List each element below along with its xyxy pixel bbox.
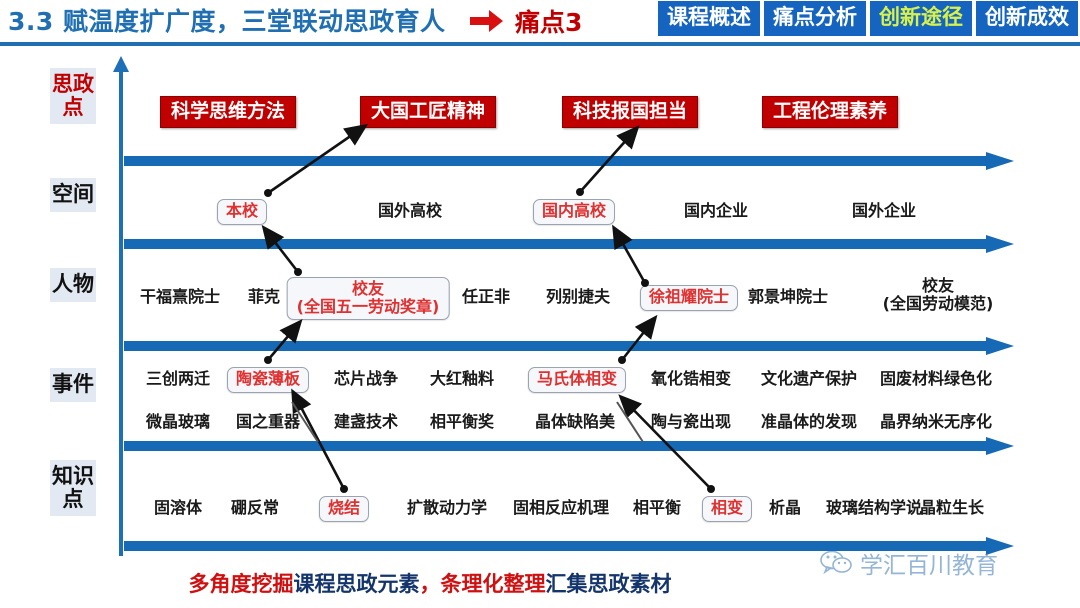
kongjian-item-1[interactable]: 本校 xyxy=(217,199,267,225)
renwu-item-5: 列别捷夫 xyxy=(546,289,610,306)
zhishidian-item-4: 扩散动力学 xyxy=(407,500,487,517)
tab-innovation-path[interactable]: 创新途径 xyxy=(870,1,972,36)
shijian-separator-right xyxy=(617,402,643,442)
kongjian-item-5: 国外企业 xyxy=(852,203,916,220)
sizheng-box-3[interactable]: 科技报国担当 xyxy=(562,96,698,128)
tab-innovation-results[interactable]: 创新成效 xyxy=(976,1,1078,36)
shijian-l2-item-2: 国之重器 xyxy=(236,414,300,431)
shijian-l2-item-5: 晶体缺陷美 xyxy=(535,414,615,431)
shijian-l1-item-1: 三创两迁 xyxy=(146,371,210,388)
zhishidian-item-2: 硼反常 xyxy=(231,500,279,517)
renwu-item-8-line2: (全国劳动模范) xyxy=(883,295,994,313)
zhishidian-item-6: 相平衡 xyxy=(633,500,681,517)
shijian-l1-item-8: 固废材料绿色化 xyxy=(880,371,992,388)
footer-seg-2: 课程思政元素 xyxy=(294,572,420,596)
wechat-icon xyxy=(820,550,854,576)
shijian-l2-item-7: 准晶体的发现 xyxy=(761,414,857,431)
watermark-text: 学汇百川教育 xyxy=(860,546,998,580)
zhishidian-item-5: 固相反应机理 xyxy=(513,500,609,517)
slide-header: 3.3 赋温度扩广度，三堂联动思政育人 痛点3 课程概述 痛点分析 创新途径 创… xyxy=(0,0,1080,44)
shijian-l1-item-5[interactable]: 马氏体相变 xyxy=(528,367,626,393)
shijian-l1-item-2[interactable]: 陶瓷薄板 xyxy=(227,367,309,393)
row-arrow-sizheng-divider xyxy=(124,152,1014,170)
sidebar-item-shijian[interactable]: 事件 xyxy=(50,368,96,402)
renwu-item-3-line1: 校友 xyxy=(297,280,440,298)
zhishidian-item-10: 晶粒生长 xyxy=(920,500,984,517)
footer-seg-3: ，条理化整理 xyxy=(420,572,546,596)
right-arrow-icon xyxy=(470,8,504,34)
shijian-l1-item-3: 芯片战争 xyxy=(334,371,398,388)
sizheng-box-2[interactable]: 大国工匠精神 xyxy=(360,96,496,128)
shijian-l2-item-1: 微晶玻璃 xyxy=(146,414,210,431)
page-title: 3.3 赋温度扩广度，三堂联动思政育人 xyxy=(8,2,446,38)
renwu-item-7: 郭景坤院士 xyxy=(748,289,828,306)
zhishidian-item-1: 固溶体 xyxy=(154,500,202,517)
shijian-l2-item-4: 相平衡奖 xyxy=(430,414,494,431)
renwu-item-3-line2: (全国五一劳动奖章) xyxy=(297,298,440,316)
renwu-item-2: 菲克 xyxy=(248,289,280,306)
footer-seg-1: 多角度挖掘 xyxy=(189,572,294,596)
kongjian-item-3[interactable]: 国内高校 xyxy=(533,199,615,225)
footer-caption: 多角度挖掘课程思政元素，条理化整理汇集思政素材 xyxy=(0,568,860,598)
zhishidian-item-7[interactable]: 相变 xyxy=(702,496,752,522)
shijian-l1-item-7: 文化遗产保护 xyxy=(761,371,857,388)
slide-canvas: 3.3 赋温度扩广度，三堂联动思政育人 痛点3 课程概述 痛点分析 创新途径 创… xyxy=(0,0,1080,608)
kongjian-item-2: 国外高校 xyxy=(378,203,442,220)
tab-pain-analysis[interactable]: 痛点分析 xyxy=(764,1,866,36)
sizheng-box-4[interactable]: 工程伦理素养 xyxy=(762,96,898,128)
renwu-item-8-line1: 校友 xyxy=(883,277,994,295)
zhishidian-item-9: 玻璃结构学说 xyxy=(826,500,922,517)
sidebar-item-renwu[interactable]: 人物 xyxy=(50,268,96,302)
sidebar-item-sizheng[interactable]: 思政点 xyxy=(50,68,96,124)
renwu-item-6[interactable]: 徐祖耀院士 xyxy=(640,285,738,311)
zhishidian-item-8: 析晶 xyxy=(769,500,801,517)
tab-course-overview[interactable]: 课程概述 xyxy=(658,1,760,36)
kongjian-item-4: 国内企业 xyxy=(684,203,748,220)
renwu-item-4: 任正非 xyxy=(462,289,510,306)
renwu-item-3[interactable]: 校友 (全国五一劳动奖章) xyxy=(287,277,450,320)
renwu-item-1: 干福熹院士 xyxy=(140,289,220,306)
up-arrow-axis-icon xyxy=(113,56,129,556)
shijian-l1-item-4: 大红釉料 xyxy=(430,371,494,388)
renwu-item-8: 校友 (全国劳动模范) xyxy=(883,277,994,313)
row-arrow-kongjian-divider xyxy=(124,235,1014,253)
shijian-l2-item-3: 建盏技术 xyxy=(334,414,398,431)
watermark: 学汇百川教育 xyxy=(820,546,998,580)
sizheng-box-1[interactable]: 科学思维方法 xyxy=(160,96,296,128)
shijian-l1-item-6: 氧化锆相变 xyxy=(651,371,731,388)
shijian-l2-item-6: 陶与瓷出现 xyxy=(651,414,731,431)
tab-bar: 课程概述 痛点分析 创新途径 创新成效 xyxy=(658,1,1078,36)
footer-seg-4: 汇集思政素材 xyxy=(546,572,672,596)
header-divider xyxy=(0,42,1080,46)
row-arrow-shijian-divider xyxy=(124,437,1014,455)
zhishidian-item-3[interactable]: 烧结 xyxy=(319,496,369,522)
sidebar-item-kongjian[interactable]: 空间 xyxy=(50,178,96,212)
sidebar-item-zhishidian[interactable]: 知识点 xyxy=(50,460,96,516)
pain-point-label: 痛点3 xyxy=(515,3,582,39)
shijian-l2-item-8: 晶界纳米无序化 xyxy=(880,414,992,431)
row-arrow-renwu-divider xyxy=(124,337,1014,355)
